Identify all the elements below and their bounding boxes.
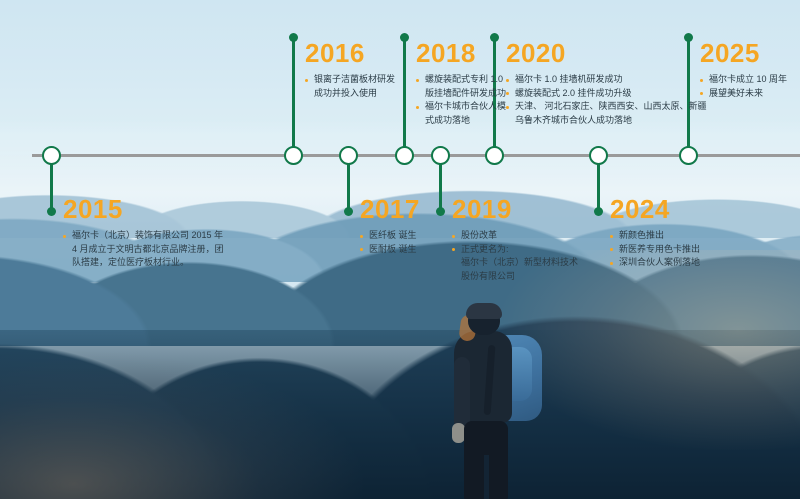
milestone-block-2020: 2020福尔卡 1.0 挂墙机研发成功螺旋装配式 2.0 挂件成功升级天津、 河… — [506, 40, 707, 127]
milestone-node-2017[interactable] — [339, 146, 358, 165]
milestone-stem-2016 — [292, 37, 295, 155]
milestone-block-2025: 2025福尔卡成立 10 周年展望美好未来 — [700, 40, 787, 100]
bullet-item: 银离子洁菌板材研发 — [305, 73, 395, 87]
hiker-figure — [430, 305, 550, 499]
milestone-node-2015[interactable] — [42, 146, 61, 165]
milestone-bullets-2019: 股份改革正式更名为:福尔卡（北京）新型材料技术股份有限公司 — [452, 229, 578, 283]
milestone-stem-cap-2016 — [289, 33, 298, 42]
milestone-block-2019: 2019股份改革正式更名为:福尔卡（北京）新型材料技术股份有限公司 — [452, 196, 578, 283]
bullet-item: 新颜色推出 — [610, 229, 700, 243]
bullet-item-continuation: 成功并投入使用 — [305, 87, 395, 101]
bullet-item: 股份改革 — [452, 229, 578, 243]
bullet-item-continuation: 队搭建，定位医疗板材行业。 — [63, 256, 224, 270]
bullet-item-continuation: 股份有限公司 — [452, 270, 578, 284]
milestone-year-2017: 2017 — [360, 196, 420, 222]
bullet-item-continuation: 乌鲁木齐城市合伙人成功落地 — [506, 114, 707, 128]
bullet-item: 螺旋装配式 2.0 挂件成功升级 — [506, 87, 707, 101]
milestone-bullets-2017: 医纤板 诞生医耐板 诞生 — [360, 229, 420, 256]
milestone-bullets-2015: 福尔卡（北京）装饰有限公司 2015 年4 月成立于文明古都北京品牌注册，团队搭… — [63, 229, 224, 270]
milestone-stem-cap-2024 — [594, 207, 603, 216]
bullet-item: 医纤板 诞生 — [360, 229, 420, 243]
bullet-item: 医耐板 诞生 — [360, 243, 420, 257]
bullet-item-continuation: 福尔卡（北京）新型材料技术 — [452, 256, 578, 270]
bullet-item-continuation: 版挂墙配件研发成功 — [416, 87, 506, 101]
bullet-item: 深圳合伙人案例落地 — [610, 256, 700, 270]
bullet-item-continuation: 4 月成立于文明古都北京品牌注册，团 — [63, 243, 224, 257]
milestone-node-2016[interactable] — [284, 146, 303, 165]
hiker-leg-gap — [484, 455, 489, 499]
timeline-infographic: 2015福尔卡（北京）装饰有限公司 2015 年4 月成立于文明古都北京品牌注册… — [0, 0, 800, 499]
milestone-block-2017: 2017医纤板 诞生医耐板 诞生 — [360, 196, 420, 256]
milestone-year-2018: 2018 — [416, 40, 506, 66]
milestone-bullets-2016: 银离子洁菌板材研发成功并投入使用 — [305, 73, 395, 100]
bullet-item: 螺旋装配式专利 1.0 — [416, 73, 506, 87]
milestone-year-2024: 2024 — [610, 196, 700, 222]
milestone-year-2015: 2015 — [63, 196, 224, 222]
bullet-item: 展望美好未来 — [700, 87, 787, 101]
milestone-node-2025[interactable] — [679, 146, 698, 165]
milestone-bullets-2018: 螺旋装配式专利 1.0版挂墙配件研发成功福尔卡城市合伙人模式成功落地 — [416, 73, 506, 127]
bullet-item: 福尔卡 1.0 挂墙机研发成功 — [506, 73, 707, 87]
bullet-item: 福尔卡（北京）装饰有限公司 2015 年 — [63, 229, 224, 243]
milestone-year-2025: 2025 — [700, 40, 787, 66]
milestone-node-2019[interactable] — [431, 146, 450, 165]
milestone-year-2020: 2020 — [506, 40, 707, 66]
hiker-arm — [454, 357, 470, 431]
valley-sunlight — [0, 349, 368, 499]
milestone-block-2024: 2024新颜色推出新医养专用色卡推出深圳合伙人案例落地 — [610, 196, 700, 270]
milestone-year-2019: 2019 — [452, 196, 578, 222]
bullet-item: 正式更名为: — [452, 243, 578, 257]
milestone-bullets-2020: 福尔卡 1.0 挂墙机研发成功螺旋装配式 2.0 挂件成功升级天津、 河北石家庄… — [506, 73, 707, 127]
milestone-node-2018[interactable] — [395, 146, 414, 165]
milestone-stem-cap-2015 — [47, 207, 56, 216]
milestone-stem-cap-2018 — [400, 33, 409, 42]
bullet-item: 福尔卡城市合伙人模 — [416, 100, 506, 114]
milestone-node-2024[interactable] — [589, 146, 608, 165]
bullet-item: 新医养专用色卡推出 — [610, 243, 700, 257]
milestone-year-2016: 2016 — [305, 40, 395, 66]
milestone-block-2016: 2016银离子洁菌板材研发成功并投入使用 — [305, 40, 395, 100]
bullet-item-continuation: 式成功落地 — [416, 114, 506, 128]
milestone-stem-2018 — [403, 37, 406, 155]
hiker-hat — [466, 303, 502, 319]
milestone-stem-cap-2019 — [436, 207, 445, 216]
bullet-item: 天津、 河北石家庄、陕西西安、山西太原、新疆 — [506, 100, 707, 114]
bullet-item: 福尔卡成立 10 周年 — [700, 73, 787, 87]
milestone-bullets-2025: 福尔卡成立 10 周年展望美好未来 — [700, 73, 787, 100]
milestone-stem-cap-2017 — [344, 207, 353, 216]
milestone-node-2020[interactable] — [485, 146, 504, 165]
milestone-block-2015: 2015福尔卡（北京）装饰有限公司 2015 年4 月成立于文明古都北京品牌注册… — [63, 196, 224, 270]
milestone-bullets-2024: 新颜色推出新医养专用色卡推出深圳合伙人案例落地 — [610, 229, 700, 270]
milestone-block-2018: 2018螺旋装配式专利 1.0版挂墙配件研发成功福尔卡城市合伙人模式成功落地 — [416, 40, 506, 127]
